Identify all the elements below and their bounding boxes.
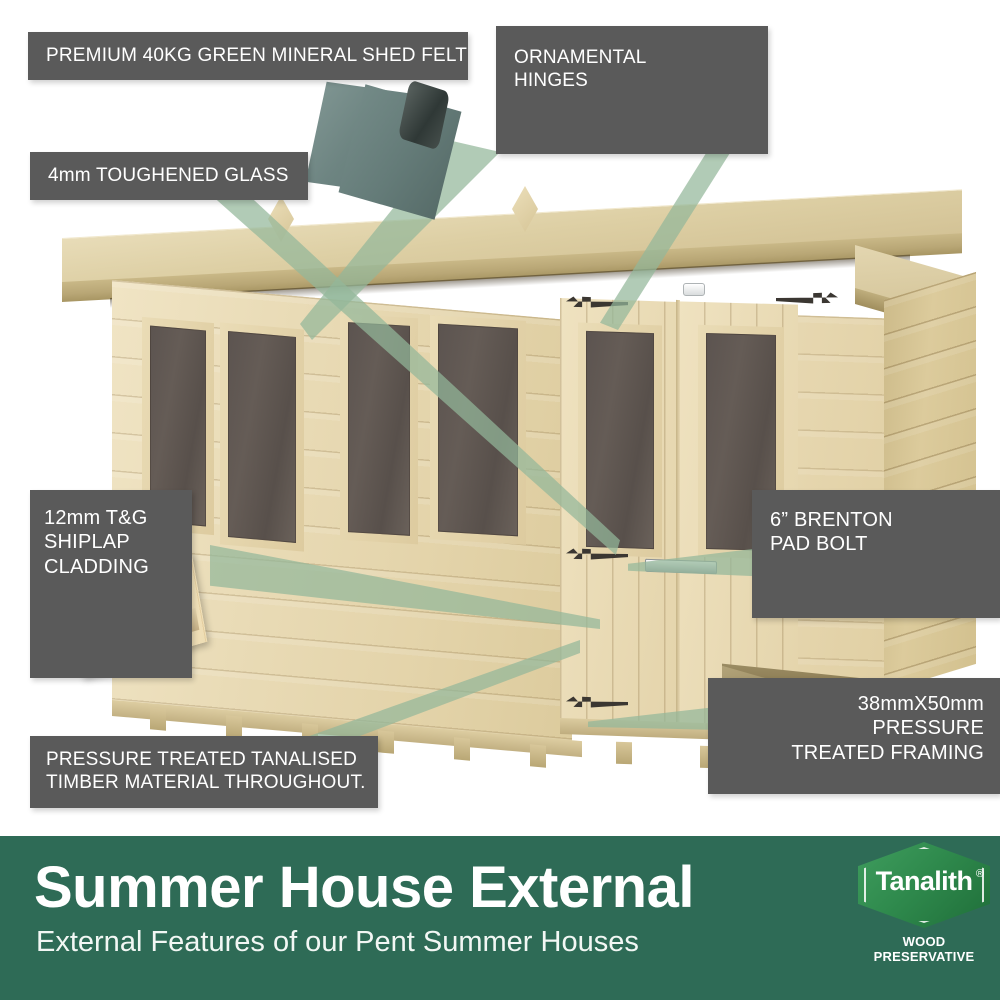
callout-pressure-treated: PRESSURE TREATED TANALISED TIMBER MATERI…: [30, 736, 378, 808]
floor-bearer: [378, 730, 394, 753]
callout-toughened-glass: 4mm TOUGHENED GLASS: [30, 152, 308, 200]
tanalith-registered-mark: ®: [976, 868, 984, 880]
callout-pressure-treated-line2: TIMBER MATERIAL THROUGHOUT.: [46, 771, 378, 794]
callout-pressure-treated-line1: PRESSURE TREATED TANALISED: [46, 748, 378, 771]
callout-pad-bolt: 6” BRENTON PAD BOLT: [752, 490, 1000, 618]
callout-framing: 38mmX50mm PRESSURE TREATED FRAMING: [708, 678, 1000, 794]
window-glass-2: [228, 331, 296, 543]
tanalith-logo: Tanalith ® WOOD PRESERVATIVE: [858, 842, 990, 934]
callout-cladding-line3: CLADDING: [44, 555, 192, 579]
callout-framing-line1: 38mmX50mm: [708, 692, 984, 716]
footer-banner: Summer House External External Features …: [0, 836, 1000, 1000]
floor-bearer: [530, 744, 546, 767]
floor-bearer: [616, 742, 632, 765]
callout-framing-line2: PRESSURE: [708, 716, 984, 740]
callout-pad-bolt-line1: 6” BRENTON: [770, 508, 1000, 532]
floor-bearer: [150, 707, 166, 730]
page-title: Summer House External: [34, 854, 694, 921]
callout-cladding-line2: SHIPLAP: [44, 530, 192, 554]
callout-hinges-line2: HINGES: [514, 69, 768, 92]
callout-shed-felt-line1: PREMIUM 40KG GREEN MINERAL SHED FELT: [46, 44, 468, 67]
tanalith-tagline: WOOD PRESERVATIVE: [858, 934, 990, 964]
callout-ornamental-hinges: ORNAMENTAL HINGES: [496, 26, 768, 154]
door-latch-plate: [683, 283, 705, 296]
right-side-wall: [884, 272, 976, 692]
callout-shed-felt: PREMIUM 40KG GREEN MINERAL SHED FELT: [28, 32, 468, 80]
page-subtitle: External Features of our Pent Summer Hou…: [36, 926, 639, 959]
callout-glass-line1: 4mm TOUGHENED GLASS: [48, 164, 308, 187]
callout-framing-line3: TREATED FRAMING: [708, 741, 984, 765]
callout-hinges-line1: ORNAMENTAL: [514, 46, 768, 69]
callout-cladding-line1: 12mm T&G: [44, 506, 192, 530]
callout-pad-bolt-line2: PAD BOLT: [770, 532, 1000, 556]
door-window-glass-left: [586, 331, 654, 549]
callout-shiplap-cladding: 12mm T&G SHIPLAP CLADDING: [30, 490, 192, 678]
infographic-canvas: PREMIUM 40KG GREEN MINERAL SHED FELT ORN…: [0, 0, 1000, 1000]
door-centre-stile: [676, 300, 680, 728]
tanalith-wordmark: Tanalith: [858, 866, 990, 897]
floor-bearer: [454, 737, 470, 760]
